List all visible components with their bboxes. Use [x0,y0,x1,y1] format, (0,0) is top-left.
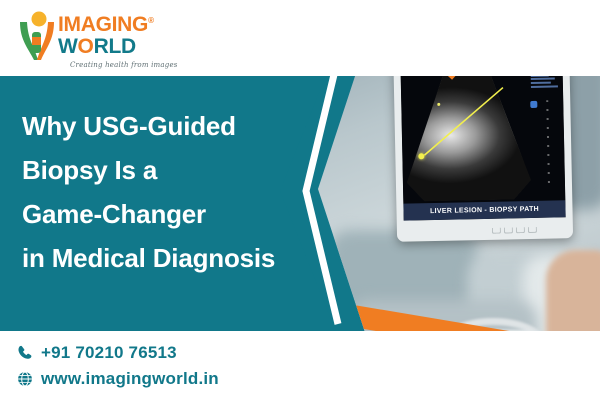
globe-icon [16,370,34,388]
ultrasound-scan-image [400,60,565,203]
registered-mark-icon: ® [148,16,154,25]
logo-text-imaging: IMAGING [58,13,148,36]
person-figure-icon [14,10,60,62]
headline-line-1: Why USG-Guided [22,104,332,148]
logo-tagline: Creating health from images [70,61,176,69]
banner-header: IMAGING® WORLD Creating health from imag… [0,0,600,76]
phone-icon [16,344,34,362]
logo-wordmark: IMAGING® WORLD Creating health from imag… [58,10,176,69]
monitor-control-keys [404,224,566,238]
banner-footer: +91 70210 76513 www.imagingworld.in [0,331,600,400]
depth-ruler [546,101,550,187]
biopsy-needle-path [419,83,509,159]
lesion-marker [437,103,440,106]
scan-mode-badge [530,101,537,108]
headline-line-2: Biopsy Is a [22,148,332,192]
usg-screen-caption: LIVER LESION - BIOPSY PATH [403,200,565,220]
logo-text-w: W [58,35,78,58]
needle-tip-marker [418,153,424,159]
website-url: www.imagingworld.in [41,369,219,389]
headline-line-4: in Medical Diagnosis [22,236,332,280]
headline-line-3: Game-Changer [22,192,332,236]
contact-website[interactable]: www.imagingworld.in [16,369,219,389]
logo-line-imaging: IMAGING® [58,10,176,35]
logo-text-rld: RLD [94,35,136,58]
logo-text-o: O [78,35,94,58]
phone-number: +91 70210 76513 [41,343,177,363]
headline-text: Why USG-Guided Biopsy Is a Game-Changer … [22,104,332,280]
brand-logo[interactable]: IMAGING® WORLD Creating health from imag… [14,6,174,72]
promo-banner: IMAGING® WORLD Creating health from imag… [0,0,600,400]
logo-line-world: WORLD [58,36,176,58]
contact-phone[interactable]: +91 70210 76513 [16,343,177,363]
